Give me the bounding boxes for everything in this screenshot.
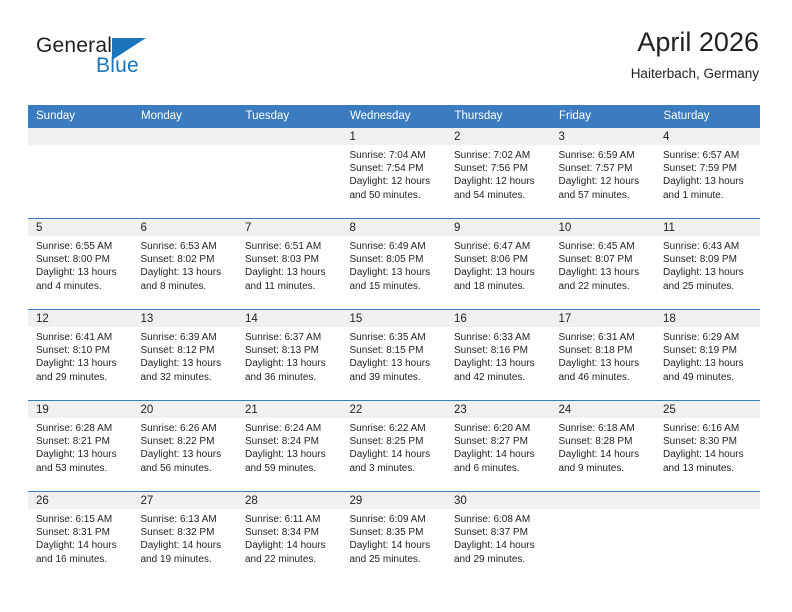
sunset-text: Sunset: 8:05 PM	[350, 253, 441, 266]
day-details: Sunrise: 6:28 AMSunset: 8:21 PMDaylight:…	[28, 418, 133, 475]
calendar-cell-inner: 3Sunrise: 6:59 AMSunset: 7:57 PMDaylight…	[551, 128, 656, 218]
page-header: General Blue April 2026 Haiterbach, Germ…	[28, 26, 759, 100]
calendar-cell-inner: 20Sunrise: 6:26 AMSunset: 8:22 PMDayligh…	[133, 401, 238, 491]
day-details: Sunrise: 6:26 AMSunset: 8:22 PMDaylight:…	[133, 418, 238, 475]
sunrise-text: Sunrise: 6:15 AM	[36, 513, 127, 526]
calendar-cell-day[interactable]: 2Sunrise: 7:02 AMSunset: 7:56 PMDaylight…	[446, 128, 551, 219]
sunrise-text: Sunrise: 6:51 AM	[245, 240, 336, 253]
calendar-cell-inner: 13Sunrise: 6:39 AMSunset: 8:12 PMDayligh…	[133, 310, 238, 400]
sunrise-text: Sunrise: 6:09 AM	[350, 513, 441, 526]
day-number: 28	[237, 492, 342, 509]
daylight-text: Daylight: 13 hours and 39 minutes.	[350, 357, 441, 383]
sunrise-text: Sunrise: 6:47 AM	[454, 240, 545, 253]
calendar-cell-empty	[133, 128, 238, 219]
daylight-text: Daylight: 13 hours and 59 minutes.	[245, 448, 336, 474]
calendar-cell-inner	[655, 492, 760, 582]
day-number: 30	[446, 492, 551, 509]
day-details: Sunrise: 6:31 AMSunset: 8:18 PMDaylight:…	[551, 327, 656, 384]
calendar-cell-inner: 18Sunrise: 6:29 AMSunset: 8:19 PMDayligh…	[655, 310, 760, 400]
sunset-text: Sunset: 8:22 PM	[141, 435, 232, 448]
calendar-cell-inner: 25Sunrise: 6:16 AMSunset: 8:30 PMDayligh…	[655, 401, 760, 491]
day-number: 8	[342, 219, 447, 236]
calendar-cell-day[interactable]: 21Sunrise: 6:24 AMSunset: 8:24 PMDayligh…	[237, 401, 342, 492]
calendar-cell-inner: 10Sunrise: 6:45 AMSunset: 8:07 PMDayligh…	[551, 219, 656, 309]
calendar-cell-inner	[551, 492, 656, 582]
calendar-cell-inner: 24Sunrise: 6:18 AMSunset: 8:28 PMDayligh…	[551, 401, 656, 491]
sunrise-text: Sunrise: 6:13 AM	[141, 513, 232, 526]
calendar-cell-day[interactable]: 26Sunrise: 6:15 AMSunset: 8:31 PMDayligh…	[28, 492, 133, 583]
day-details: Sunrise: 6:39 AMSunset: 8:12 PMDaylight:…	[133, 327, 238, 384]
weekday-header-sunday: Sunday	[28, 105, 133, 128]
sunset-text: Sunset: 8:28 PM	[559, 435, 650, 448]
sunrise-text: Sunrise: 6:41 AM	[36, 331, 127, 344]
calendar-cell-inner: 28Sunrise: 6:11 AMSunset: 8:34 PMDayligh…	[237, 492, 342, 582]
sunrise-text: Sunrise: 6:45 AM	[559, 240, 650, 253]
sunrise-text: Sunrise: 6:08 AM	[454, 513, 545, 526]
sunrise-text: Sunrise: 6:33 AM	[454, 331, 545, 344]
day-number: 26	[28, 492, 133, 509]
calendar-cell-day[interactable]: 7Sunrise: 6:51 AMSunset: 8:03 PMDaylight…	[237, 219, 342, 310]
sunrise-text: Sunrise: 6:24 AM	[245, 422, 336, 435]
title-block: April 2026 Haiterbach, Germany	[631, 26, 759, 84]
sunset-text: Sunset: 8:25 PM	[350, 435, 441, 448]
sunset-text: Sunset: 7:54 PM	[350, 162, 441, 175]
daylight-text: Daylight: 13 hours and 18 minutes.	[454, 266, 545, 292]
daylight-text: Daylight: 12 hours and 54 minutes.	[454, 175, 545, 201]
daylight-text: Daylight: 14 hours and 6 minutes.	[454, 448, 545, 474]
day-number: 14	[237, 310, 342, 327]
calendar-cell-day[interactable]: 25Sunrise: 6:16 AMSunset: 8:30 PMDayligh…	[655, 401, 760, 492]
calendar-cell-inner: 15Sunrise: 6:35 AMSunset: 8:15 PMDayligh…	[342, 310, 447, 400]
sunset-text: Sunset: 8:10 PM	[36, 344, 127, 357]
calendar-cell-day[interactable]: 11Sunrise: 6:43 AMSunset: 8:09 PMDayligh…	[655, 219, 760, 310]
daylight-text: Daylight: 12 hours and 50 minutes.	[350, 175, 441, 201]
sunset-text: Sunset: 8:19 PM	[663, 344, 754, 357]
daylight-text: Daylight: 14 hours and 29 minutes.	[454, 539, 545, 565]
weekday-header-wednesday: Wednesday	[342, 105, 447, 128]
calendar-cell-empty	[28, 128, 133, 219]
day-number: 9	[446, 219, 551, 236]
day-number: 7	[237, 219, 342, 236]
general-blue-logo[interactable]: General Blue	[36, 34, 176, 90]
calendar-cell-inner: 16Sunrise: 6:33 AMSunset: 8:16 PMDayligh…	[446, 310, 551, 400]
calendar-cell-inner: 21Sunrise: 6:24 AMSunset: 8:24 PMDayligh…	[237, 401, 342, 491]
calendar-week-row: 19Sunrise: 6:28 AMSunset: 8:21 PMDayligh…	[28, 401, 760, 492]
calendar-cell-empty	[655, 492, 760, 583]
sunrise-text: Sunrise: 6:55 AM	[36, 240, 127, 253]
calendar-cell-inner: 17Sunrise: 6:31 AMSunset: 8:18 PMDayligh…	[551, 310, 656, 400]
calendar-cell-day[interactable]: 6Sunrise: 6:53 AMSunset: 8:02 PMDaylight…	[133, 219, 238, 310]
daylight-text: Daylight: 13 hours and 1 minute.	[663, 175, 754, 201]
sunrise-text: Sunrise: 6:43 AM	[663, 240, 754, 253]
sunset-text: Sunset: 8:30 PM	[663, 435, 754, 448]
calendar-cell-day[interactable]: 1Sunrise: 7:04 AMSunset: 7:54 PMDaylight…	[342, 128, 447, 219]
daylight-text: Daylight: 14 hours and 3 minutes.	[350, 448, 441, 474]
sunset-text: Sunset: 7:57 PM	[559, 162, 650, 175]
sunrise-text: Sunrise: 6:57 AM	[663, 149, 754, 162]
sunset-text: Sunset: 8:35 PM	[350, 526, 441, 539]
calendar-header-row: Sunday Monday Tuesday Wednesday Thursday…	[28, 105, 760, 128]
calendar-cell-day[interactable]: 3Sunrise: 6:59 AMSunset: 7:57 PMDaylight…	[551, 128, 656, 219]
weekday-header-thursday: Thursday	[446, 105, 551, 128]
weekday-header-monday: Monday	[133, 105, 238, 128]
calendar-cell-day[interactable]: 29Sunrise: 6:09 AMSunset: 8:35 PMDayligh…	[342, 492, 447, 583]
sunset-text: Sunset: 8:27 PM	[454, 435, 545, 448]
day-number: 17	[551, 310, 656, 327]
page-title: April 2026	[631, 26, 759, 58]
calendar-cell-day[interactable]: 8Sunrise: 6:49 AMSunset: 8:05 PMDaylight…	[342, 219, 447, 310]
day-details: Sunrise: 7:02 AMSunset: 7:56 PMDaylight:…	[446, 145, 551, 202]
day-number: 29	[342, 492, 447, 509]
daylight-text: Daylight: 13 hours and 8 minutes.	[141, 266, 232, 292]
calendar-cell-inner: 30Sunrise: 6:08 AMSunset: 8:37 PMDayligh…	[446, 492, 551, 582]
daylight-text: Daylight: 13 hours and 56 minutes.	[141, 448, 232, 474]
day-details: Sunrise: 6:45 AMSunset: 8:07 PMDaylight:…	[551, 236, 656, 293]
sunset-text: Sunset: 8:15 PM	[350, 344, 441, 357]
calendar-cell-inner: 9Sunrise: 6:47 AMSunset: 8:06 PMDaylight…	[446, 219, 551, 309]
day-number: 11	[655, 219, 760, 236]
day-details: Sunrise: 6:55 AMSunset: 8:00 PMDaylight:…	[28, 236, 133, 293]
calendar-cell-day[interactable]: 23Sunrise: 6:20 AMSunset: 8:27 PMDayligh…	[446, 401, 551, 492]
calendar-cell-empty	[237, 128, 342, 219]
sunset-text: Sunset: 7:56 PM	[454, 162, 545, 175]
day-details: Sunrise: 6:11 AMSunset: 8:34 PMDaylight:…	[237, 509, 342, 566]
day-number: 15	[342, 310, 447, 327]
sunset-text: Sunset: 8:12 PM	[141, 344, 232, 357]
day-number	[133, 128, 238, 145]
calendar-week-row: 1Sunrise: 7:04 AMSunset: 7:54 PMDaylight…	[28, 128, 760, 219]
day-number: 3	[551, 128, 656, 145]
calendar-cell-inner: 23Sunrise: 6:20 AMSunset: 8:27 PMDayligh…	[446, 401, 551, 491]
sunset-text: Sunset: 7:59 PM	[663, 162, 754, 175]
day-number	[551, 492, 656, 509]
day-details: Sunrise: 6:35 AMSunset: 8:15 PMDaylight:…	[342, 327, 447, 384]
day-number: 16	[446, 310, 551, 327]
weekday-header-tuesday: Tuesday	[237, 105, 342, 128]
calendar-cell-empty	[551, 492, 656, 583]
calendar-cell-inner: 14Sunrise: 6:37 AMSunset: 8:13 PMDayligh…	[237, 310, 342, 400]
daylight-text: Daylight: 13 hours and 49 minutes.	[663, 357, 754, 383]
sunrise-text: Sunrise: 6:22 AM	[350, 422, 441, 435]
calendar-cell-day[interactable]: 22Sunrise: 6:22 AMSunset: 8:25 PMDayligh…	[342, 401, 447, 492]
sunset-text: Sunset: 8:34 PM	[245, 526, 336, 539]
calendar-week-row: 12Sunrise: 6:41 AMSunset: 8:10 PMDayligh…	[28, 310, 760, 401]
sunset-text: Sunset: 8:18 PM	[559, 344, 650, 357]
sunset-text: Sunset: 8:31 PM	[36, 526, 127, 539]
sunrise-text: Sunrise: 6:37 AM	[245, 331, 336, 344]
sunset-text: Sunset: 8:06 PM	[454, 253, 545, 266]
day-number: 18	[655, 310, 760, 327]
calendar-cell-inner: 5Sunrise: 6:55 AMSunset: 8:00 PMDaylight…	[28, 219, 133, 309]
calendar-cell-day[interactable]: 17Sunrise: 6:31 AMSunset: 8:18 PMDayligh…	[551, 310, 656, 401]
daylight-text: Daylight: 14 hours and 22 minutes.	[245, 539, 336, 565]
day-number: 19	[28, 401, 133, 418]
calendar-cell-inner: 22Sunrise: 6:22 AMSunset: 8:25 PMDayligh…	[342, 401, 447, 491]
day-number: 21	[237, 401, 342, 418]
calendar-cell-day[interactable]: 12Sunrise: 6:41 AMSunset: 8:10 PMDayligh…	[28, 310, 133, 401]
sunrise-text: Sunrise: 6:49 AM	[350, 240, 441, 253]
calendar-cell-inner	[133, 128, 238, 218]
calendar-cell-day[interactable]: 14Sunrise: 6:37 AMSunset: 8:13 PMDayligh…	[237, 310, 342, 401]
sunset-text: Sunset: 8:13 PM	[245, 344, 336, 357]
calendar-grid: Sunday Monday Tuesday Wednesday Thursday…	[28, 105, 760, 582]
day-details: Sunrise: 6:09 AMSunset: 8:35 PMDaylight:…	[342, 509, 447, 566]
day-details: Sunrise: 6:53 AMSunset: 8:02 PMDaylight:…	[133, 236, 238, 293]
day-details: Sunrise: 6:33 AMSunset: 8:16 PMDaylight:…	[446, 327, 551, 384]
daylight-text: Daylight: 13 hours and 42 minutes.	[454, 357, 545, 383]
daylight-text: Daylight: 13 hours and 22 minutes.	[559, 266, 650, 292]
day-number: 23	[446, 401, 551, 418]
calendar-cell-inner: 26Sunrise: 6:15 AMSunset: 8:31 PMDayligh…	[28, 492, 133, 582]
sunrise-text: Sunrise: 6:18 AM	[559, 422, 650, 435]
sunset-text: Sunset: 8:32 PM	[141, 526, 232, 539]
calendar-cell-day[interactable]: 30Sunrise: 6:08 AMSunset: 8:37 PMDayligh…	[446, 492, 551, 583]
sunrise-text: Sunrise: 6:26 AM	[141, 422, 232, 435]
calendar-cell-inner: 27Sunrise: 6:13 AMSunset: 8:32 PMDayligh…	[133, 492, 238, 582]
calendar-page: General Blue April 2026 Haiterbach, Germ…	[0, 0, 792, 612]
calendar-cell-day[interactable]: 27Sunrise: 6:13 AMSunset: 8:32 PMDayligh…	[133, 492, 238, 583]
calendar-week-row: 26Sunrise: 6:15 AMSunset: 8:31 PMDayligh…	[28, 492, 760, 583]
sunrise-text: Sunrise: 6:31 AM	[559, 331, 650, 344]
calendar-cell-inner: 1Sunrise: 7:04 AMSunset: 7:54 PMDaylight…	[342, 128, 447, 218]
day-number: 22	[342, 401, 447, 418]
daylight-text: Daylight: 14 hours and 9 minutes.	[559, 448, 650, 474]
calendar-cell-day[interactable]: 18Sunrise: 6:29 AMSunset: 8:19 PMDayligh…	[655, 310, 760, 401]
day-number: 4	[655, 128, 760, 145]
daylight-text: Daylight: 13 hours and 36 minutes.	[245, 357, 336, 383]
sunset-text: Sunset: 8:24 PM	[245, 435, 336, 448]
sunset-text: Sunset: 8:09 PM	[663, 253, 754, 266]
sunrise-text: Sunrise: 6:28 AM	[36, 422, 127, 435]
calendar-cell-day[interactable]: 19Sunrise: 6:28 AMSunset: 8:21 PMDayligh…	[28, 401, 133, 492]
day-number: 20	[133, 401, 238, 418]
day-details: Sunrise: 6:43 AMSunset: 8:09 PMDaylight:…	[655, 236, 760, 293]
day-details: Sunrise: 6:22 AMSunset: 8:25 PMDaylight:…	[342, 418, 447, 475]
calendar-cell-inner	[28, 128, 133, 218]
daylight-text: Daylight: 12 hours and 57 minutes.	[559, 175, 650, 201]
day-details: Sunrise: 6:24 AMSunset: 8:24 PMDaylight:…	[237, 418, 342, 475]
weekday-header-friday: Friday	[551, 105, 656, 128]
calendar-cell-day[interactable]: 15Sunrise: 6:35 AMSunset: 8:15 PMDayligh…	[342, 310, 447, 401]
day-details: Sunrise: 6:59 AMSunset: 7:57 PMDaylight:…	[551, 145, 656, 202]
sunset-text: Sunset: 8:00 PM	[36, 253, 127, 266]
day-number: 6	[133, 219, 238, 236]
sunrise-text: Sunrise: 6:59 AM	[559, 149, 650, 162]
weekday-header-saturday: Saturday	[655, 105, 760, 128]
logo-text-blue: Blue	[96, 54, 139, 78]
day-details: Sunrise: 6:41 AMSunset: 8:10 PMDaylight:…	[28, 327, 133, 384]
day-details: Sunrise: 6:16 AMSunset: 8:30 PMDaylight:…	[655, 418, 760, 475]
daylight-text: Daylight: 13 hours and 25 minutes.	[663, 266, 754, 292]
sunrise-text: Sunrise: 6:39 AM	[141, 331, 232, 344]
day-number: 24	[551, 401, 656, 418]
calendar-cell-inner: 6Sunrise: 6:53 AMSunset: 8:02 PMDaylight…	[133, 219, 238, 309]
daylight-text: Daylight: 13 hours and 4 minutes.	[36, 266, 127, 292]
sunrise-text: Sunrise: 6:29 AM	[663, 331, 754, 344]
daylight-text: Daylight: 14 hours and 25 minutes.	[350, 539, 441, 565]
day-details: Sunrise: 6:57 AMSunset: 7:59 PMDaylight:…	[655, 145, 760, 202]
calendar-cell-day[interactable]: 16Sunrise: 6:33 AMSunset: 8:16 PMDayligh…	[446, 310, 551, 401]
sunrise-text: Sunrise: 6:11 AM	[245, 513, 336, 526]
day-number: 5	[28, 219, 133, 236]
day-details: Sunrise: 6:51 AMSunset: 8:03 PMDaylight:…	[237, 236, 342, 293]
daylight-text: Daylight: 14 hours and 13 minutes.	[663, 448, 754, 474]
sunset-text: Sunset: 8:07 PM	[559, 253, 650, 266]
calendar-cell-inner: 8Sunrise: 6:49 AMSunset: 8:05 PMDaylight…	[342, 219, 447, 309]
daylight-text: Daylight: 13 hours and 46 minutes.	[559, 357, 650, 383]
day-details: Sunrise: 7:04 AMSunset: 7:54 PMDaylight:…	[342, 145, 447, 202]
page-subtitle: Haiterbach, Germany	[631, 64, 759, 84]
sunset-text: Sunset: 8:37 PM	[454, 526, 545, 539]
day-number: 25	[655, 401, 760, 418]
day-details: Sunrise: 6:20 AMSunset: 8:27 PMDaylight:…	[446, 418, 551, 475]
calendar-cell-inner: 4Sunrise: 6:57 AMSunset: 7:59 PMDaylight…	[655, 128, 760, 218]
calendar-cell-day[interactable]: 5Sunrise: 6:55 AMSunset: 8:00 PMDaylight…	[28, 219, 133, 310]
calendar-cell-day[interactable]: 4Sunrise: 6:57 AMSunset: 7:59 PMDaylight…	[655, 128, 760, 219]
day-details: Sunrise: 6:08 AMSunset: 8:37 PMDaylight:…	[446, 509, 551, 566]
calendar-cell-day[interactable]: 28Sunrise: 6:11 AMSunset: 8:34 PMDayligh…	[237, 492, 342, 583]
daylight-text: Daylight: 14 hours and 19 minutes.	[141, 539, 232, 565]
daylight-text: Daylight: 13 hours and 11 minutes.	[245, 266, 336, 292]
day-details: Sunrise: 6:47 AMSunset: 8:06 PMDaylight:…	[446, 236, 551, 293]
calendar-cell-day[interactable]: 24Sunrise: 6:18 AMSunset: 8:28 PMDayligh…	[551, 401, 656, 492]
daylight-text: Daylight: 13 hours and 32 minutes.	[141, 357, 232, 383]
daylight-text: Daylight: 13 hours and 29 minutes.	[36, 357, 127, 383]
day-details: Sunrise: 6:29 AMSunset: 8:19 PMDaylight:…	[655, 327, 760, 384]
calendar-week-row: 5Sunrise: 6:55 AMSunset: 8:00 PMDaylight…	[28, 219, 760, 310]
day-number: 13	[133, 310, 238, 327]
sunrise-text: Sunrise: 6:53 AM	[141, 240, 232, 253]
sunrise-text: Sunrise: 6:16 AM	[663, 422, 754, 435]
day-details: Sunrise: 6:18 AMSunset: 8:28 PMDaylight:…	[551, 418, 656, 475]
day-number	[28, 128, 133, 145]
calendar-cell-inner: 11Sunrise: 6:43 AMSunset: 8:09 PMDayligh…	[655, 219, 760, 309]
sunset-text: Sunset: 8:21 PM	[36, 435, 127, 448]
calendar-cell-inner	[237, 128, 342, 218]
day-number: 2	[446, 128, 551, 145]
day-number	[237, 128, 342, 145]
day-number: 1	[342, 128, 447, 145]
calendar-cell-inner: 29Sunrise: 6:09 AMSunset: 8:35 PMDayligh…	[342, 492, 447, 582]
day-number: 12	[28, 310, 133, 327]
day-details: Sunrise: 6:15 AMSunset: 8:31 PMDaylight:…	[28, 509, 133, 566]
daylight-text: Daylight: 14 hours and 16 minutes.	[36, 539, 127, 565]
sunset-text: Sunset: 8:16 PM	[454, 344, 545, 357]
day-details: Sunrise: 6:37 AMSunset: 8:13 PMDaylight:…	[237, 327, 342, 384]
calendar-cell-day[interactable]: 9Sunrise: 6:47 AMSunset: 8:06 PMDaylight…	[446, 219, 551, 310]
calendar-cell-inner: 2Sunrise: 7:02 AMSunset: 7:56 PMDaylight…	[446, 128, 551, 218]
sunrise-text: Sunrise: 6:20 AM	[454, 422, 545, 435]
daylight-text: Daylight: 13 hours and 15 minutes.	[350, 266, 441, 292]
calendar-body: 1Sunrise: 7:04 AMSunset: 7:54 PMDaylight…	[28, 128, 760, 583]
sunrise-text: Sunrise: 6:35 AM	[350, 331, 441, 344]
calendar-cell-day[interactable]: 20Sunrise: 6:26 AMSunset: 8:22 PMDayligh…	[133, 401, 238, 492]
day-details: Sunrise: 6:49 AMSunset: 8:05 PMDaylight:…	[342, 236, 447, 293]
sunset-text: Sunset: 8:03 PM	[245, 253, 336, 266]
calendar-cell-day[interactable]: 10Sunrise: 6:45 AMSunset: 8:07 PMDayligh…	[551, 219, 656, 310]
calendar-cell-day[interactable]: 13Sunrise: 6:39 AMSunset: 8:12 PMDayligh…	[133, 310, 238, 401]
calendar-cell-inner: 19Sunrise: 6:28 AMSunset: 8:21 PMDayligh…	[28, 401, 133, 491]
calendar-cell-inner: 12Sunrise: 6:41 AMSunset: 8:10 PMDayligh…	[28, 310, 133, 400]
daylight-text: Daylight: 13 hours and 53 minutes.	[36, 448, 127, 474]
sunset-text: Sunset: 8:02 PM	[141, 253, 232, 266]
calendar-cell-inner: 7Sunrise: 6:51 AMSunset: 8:03 PMDaylight…	[237, 219, 342, 309]
day-details: Sunrise: 6:13 AMSunset: 8:32 PMDaylight:…	[133, 509, 238, 566]
day-number	[655, 492, 760, 509]
day-number: 27	[133, 492, 238, 509]
sunrise-text: Sunrise: 7:04 AM	[350, 149, 441, 162]
day-number: 10	[551, 219, 656, 236]
sunrise-text: Sunrise: 7:02 AM	[454, 149, 545, 162]
